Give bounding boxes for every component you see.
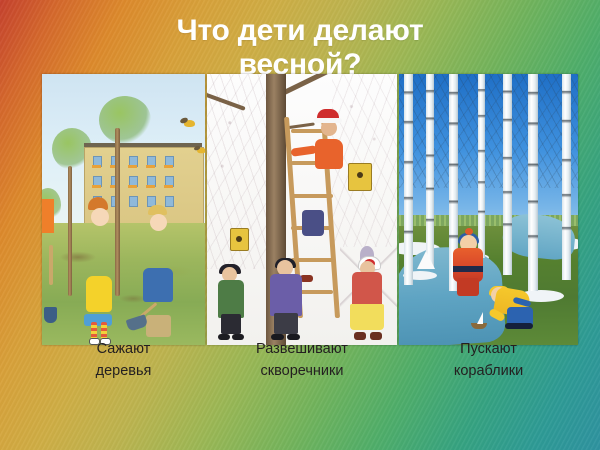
panel-planting-trees[interactable] [42,74,205,345]
child-red-coat [352,256,386,340]
girl-striped-leg [91,322,97,340]
caption-line-1: Сажают [42,338,205,360]
birch-tree [478,74,485,258]
panel-hanging-birdhouses[interactable] [207,74,397,345]
girl-yellow-jacket [86,276,112,312]
caption-line-2: кораблики [399,360,578,382]
caption-line-1: Пускают [399,338,578,360]
birdhouse [348,163,372,191]
page-title: Что дети делают весной? [0,14,600,82]
caption-line-2: скворечники [207,360,397,382]
panel-sailing-boats[interactable] [399,74,578,345]
illustration-sailing-boats [399,74,578,345]
caption-line-2: деревья [42,360,205,382]
image-panel-row [42,74,578,345]
caption-row: Сажают деревья Развешивают скворечники П… [42,338,578,394]
toy-boat [471,323,487,329]
toy-boat [417,251,435,269]
tree-crown [99,96,151,144]
caption-hanging-birdhouses: Развешивают скворечники [207,338,397,394]
spade-blade [44,307,57,323]
climber-legs [302,210,324,236]
bird-icon [184,120,195,127]
child-green-coat [218,262,248,340]
slide-canvas: Что дети делают весной? [0,0,600,450]
illustration-hanging-birdhouses [207,74,397,345]
illustration-planting-trees [42,74,205,345]
ground [42,223,205,345]
boy-head [150,214,167,231]
child-yellow-suit [489,281,535,329]
girl-skirt [84,314,112,326]
orange-flag [42,199,54,233]
girl-head [91,208,109,226]
spade-handle [49,245,53,285]
caption-line-1: Развешивают [207,338,397,360]
birch-tree [503,74,512,275]
birch-tree [528,74,538,291]
birch-tree [426,74,434,269]
boy-trousers [146,315,171,337]
title-line-1: Что дети делают [0,14,600,48]
child-red-jacket [453,240,483,296]
climber-red-hat [317,109,339,120]
caption-planting-trees: Сажают деревья [42,338,205,394]
bird-icon [197,148,205,154]
caption-sailing-boats: Пускают кораблики [399,338,578,394]
sapling-trunk [115,128,120,296]
birch-tree [562,74,571,280]
girl-striped-leg [101,322,107,340]
birch-tree [404,74,413,285]
child-purple-coat [270,256,304,340]
tree-trunk [68,166,72,296]
boy-blue-jacket [143,268,173,302]
climber-orange-jacket [315,139,343,169]
birdhouse [230,228,249,251]
